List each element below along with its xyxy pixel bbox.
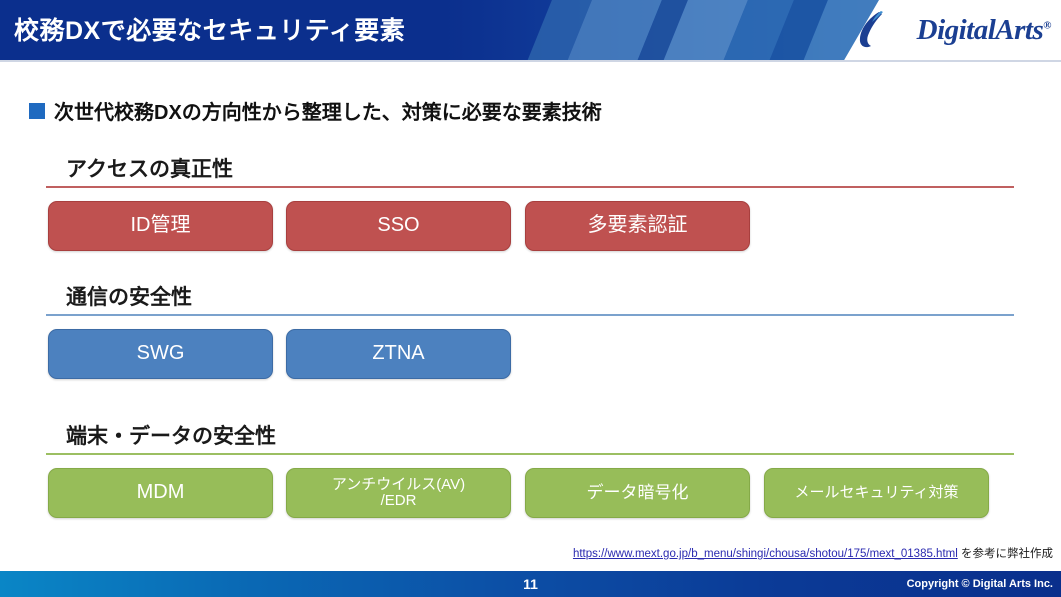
chip-label: MDM	[137, 482, 185, 504]
chip-row: MDM アンチウイルス(AV) /EDR データ暗号化 メールセキュリティ対策	[46, 468, 1014, 518]
chip-label: メールセキュリティ対策	[794, 485, 958, 501]
section-title: アクセスの真正性	[46, 157, 1014, 183]
chip-swg[interactable]: SWG	[48, 329, 273, 379]
chip-row: ID管理 SSO 多要素認証	[46, 201, 1014, 251]
section-title: 通信の安全性	[46, 285, 1014, 311]
chip-label-line2: /EDR	[381, 492, 417, 509]
chip-label: ID管理	[131, 215, 191, 237]
chip-label: データ暗号化	[587, 484, 689, 502]
chip-mail-security[interactable]: メールセキュリティ対策	[764, 468, 989, 518]
header-bottom-rule	[0, 60, 1061, 62]
digital-arts-logo: DigitalArts®	[851, 8, 1051, 52]
chip-antivirus-edr[interactable]: アンチウイルス(AV) /EDR	[286, 468, 511, 518]
logo-registered-mark: ®	[1043, 19, 1051, 31]
chip-sso[interactable]: SSO	[286, 201, 511, 251]
chip-label: SSO	[377, 215, 419, 237]
chip-row: SWG ZTNA	[46, 329, 1014, 379]
logo-wordmark: DigitalArts®	[917, 16, 1051, 45]
slide-title: 校務DXで必要なセキュリティ要素	[14, 11, 405, 47]
chip-ztna[interactable]: ZTNA	[286, 329, 511, 379]
section-rule	[46, 453, 1014, 455]
chip-label-multiline: アンチウイルス(AV) /EDR	[332, 477, 465, 509]
source-url-link[interactable]: https://www.mext.go.jp/b_menu/shingi/cho…	[573, 548, 958, 560]
page-number: 11	[0, 576, 1061, 592]
chip-data-encryption[interactable]: データ暗号化	[525, 468, 750, 518]
lead-bullet: 次世代校務DXの方向性から整理した、対策に必要な要素技術	[29, 96, 602, 125]
chip-label: ZTNA	[372, 343, 424, 365]
section-endpoint-data-safety: 端末・データの安全性 MDM アンチウイルス(AV) /EDR データ暗号化 メ…	[46, 424, 1014, 518]
section-title: 端末・データの安全性	[46, 424, 1014, 450]
chip-id-management[interactable]: ID管理	[48, 201, 273, 251]
section-rule	[46, 314, 1014, 316]
chip-label: 多要素認証	[588, 215, 688, 237]
chip-mdm[interactable]: MDM	[48, 468, 273, 518]
source-note-suffix: を参考に弊社作成	[961, 548, 1053, 560]
slide-header: 校務DXで必要なセキュリティ要素 DigitalArts®	[0, 0, 1061, 62]
copyright-text: Copyright © Digital Arts Inc.	[907, 578, 1053, 590]
section-access-authenticity: アクセスの真正性 ID管理 SSO 多要素認証	[46, 157, 1014, 251]
logo-wordmark-text: DigitalArts	[917, 14, 1044, 46]
slide-footer: 11 Copyright © Digital Arts Inc.	[0, 571, 1061, 597]
chip-multi-factor-auth[interactable]: 多要素認証	[525, 201, 750, 251]
bullet-square-icon	[29, 103, 45, 119]
lead-bullet-text: 次世代校務DXの方向性から整理した、対策に必要な要素技術	[54, 96, 602, 125]
chip-label-line1: アンチウイルス(AV)	[332, 476, 465, 493]
chip-label: SWG	[137, 343, 185, 365]
source-note: https://www.mext.go.jp/b_menu/shingi/cho…	[573, 545, 1053, 561]
section-communication-safety: 通信の安全性 SWG ZTNA	[46, 285, 1014, 379]
section-rule	[46, 186, 1014, 188]
logo-swoosh-icon	[857, 10, 887, 50]
